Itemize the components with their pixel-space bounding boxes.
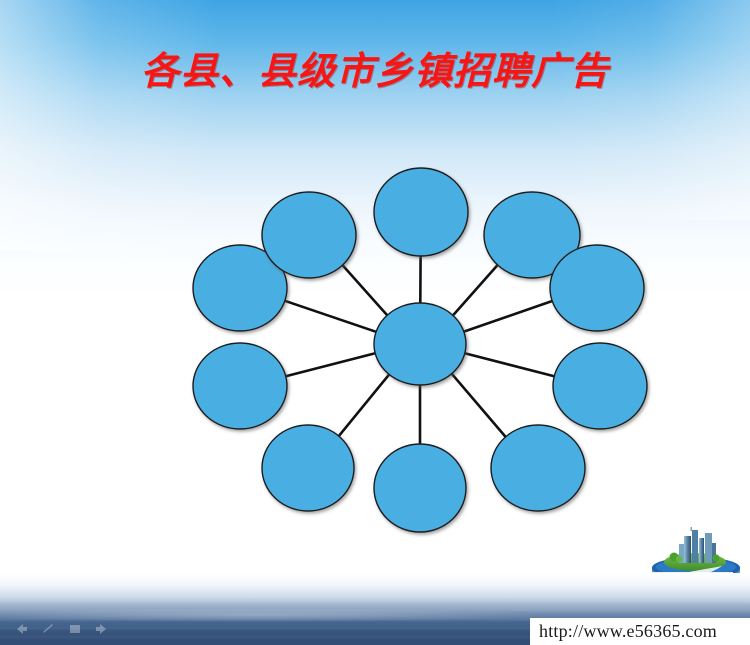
node-6[interactable] bbox=[374, 444, 466, 532]
node-7[interactable] bbox=[262, 425, 354, 511]
tree bbox=[712, 554, 719, 561]
pen-icon[interactable] bbox=[41, 623, 55, 635]
node-8[interactable] bbox=[193, 343, 287, 429]
radial-diagram bbox=[0, 0, 750, 645]
url-watermark: http://www.e56365.com bbox=[530, 618, 750, 645]
connector-node-8 bbox=[286, 353, 375, 376]
previous-arrow-icon[interactable] bbox=[14, 623, 28, 635]
connector-node-2 bbox=[453, 265, 498, 315]
connector-node-5 bbox=[452, 374, 506, 437]
connector-node-4 bbox=[465, 353, 554, 376]
radial-diagram-canvas bbox=[0, 0, 750, 645]
next-arrow-icon[interactable] bbox=[95, 623, 109, 635]
center-node[interactable] bbox=[374, 303, 466, 385]
node-1[interactable] bbox=[374, 168, 468, 256]
slide: 各县、县级市乡镇招聘广告 bbox=[0, 0, 750, 645]
connector-node-10 bbox=[343, 265, 388, 315]
tree bbox=[676, 556, 682, 562]
node-group bbox=[193, 168, 647, 532]
city-skyline bbox=[679, 527, 716, 563]
node-4[interactable] bbox=[553, 343, 647, 429]
menu-square-icon[interactable] bbox=[68, 623, 82, 635]
node-3[interactable] bbox=[550, 245, 644, 331]
connector-node-3 bbox=[464, 301, 552, 332]
node-5[interactable] bbox=[491, 425, 585, 511]
connector-node-7 bbox=[339, 374, 389, 436]
connector-node-9 bbox=[285, 301, 376, 332]
slideshow-nav-controls[interactable] bbox=[14, 623, 109, 635]
watermark-url-text: http://www.e56365.com bbox=[539, 621, 717, 642]
node-10[interactable] bbox=[262, 192, 356, 278]
